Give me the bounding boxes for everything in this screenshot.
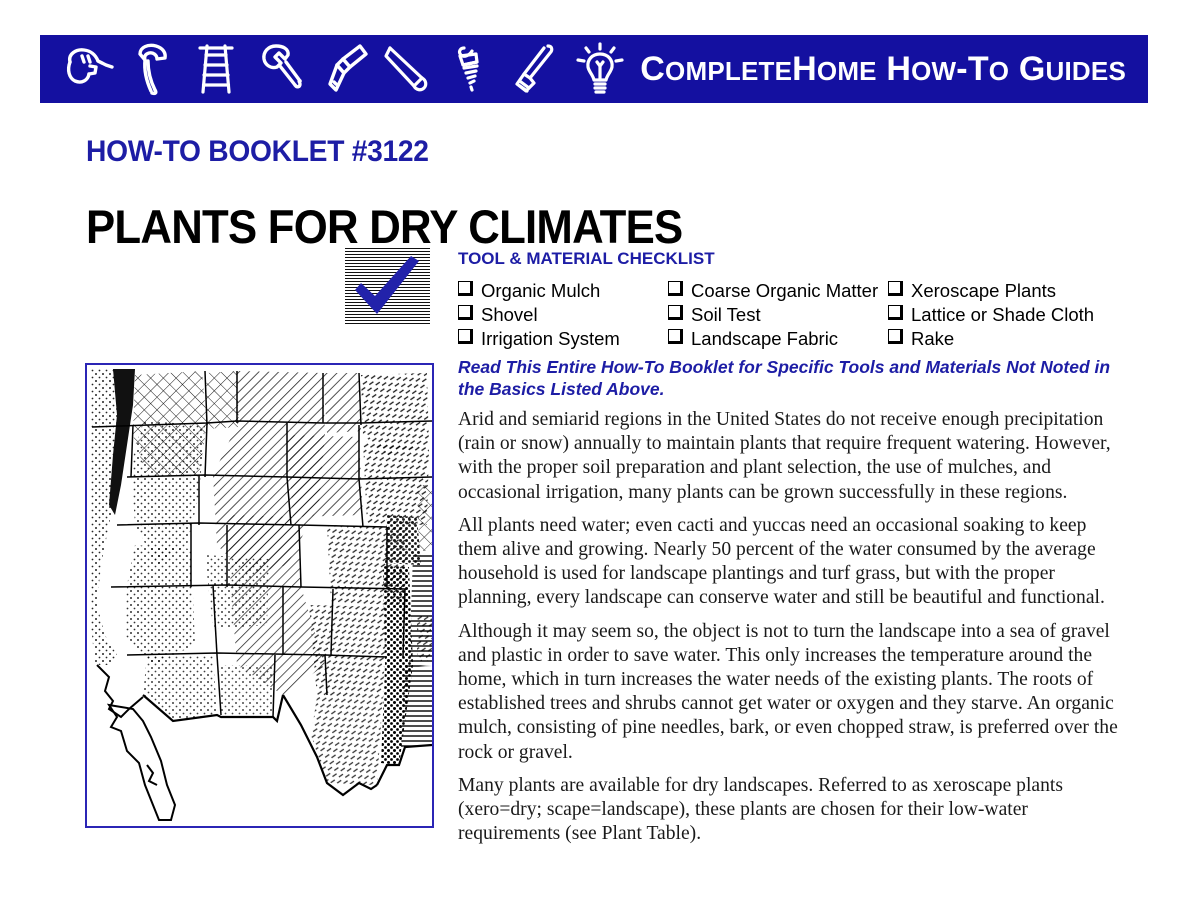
checkbox-icon[interactable] bbox=[458, 305, 473, 320]
checkbox-icon[interactable] bbox=[458, 329, 473, 344]
checklist-item-label: Coarse Organic Matter bbox=[691, 279, 878, 302]
screw-icon bbox=[446, 40, 498, 98]
climate-map-graphic bbox=[87, 365, 432, 826]
tool-icon-strip bbox=[40, 35, 626, 103]
paintbrush-icon bbox=[318, 40, 370, 98]
booklet-number: HOW-TO BOOKLET #3122 bbox=[86, 135, 429, 169]
checklist-item[interactable]: Landscape Fabric bbox=[668, 327, 888, 350]
checklist-item-label: Lattice or Shade Cloth bbox=[911, 303, 1094, 326]
checklist-item-label: Landscape Fabric bbox=[691, 327, 838, 350]
hammer-icon bbox=[126, 40, 178, 98]
page-title: PLANTS FOR DRY CLIMATES bbox=[86, 199, 682, 254]
brand-part: -T bbox=[956, 50, 989, 88]
checklist-item-label: Rake bbox=[911, 327, 954, 350]
lightbulb-icon bbox=[574, 40, 626, 98]
us-arid-semiarid-climate-zone-map bbox=[85, 363, 434, 828]
checklist-item[interactable]: Rake bbox=[888, 327, 1148, 350]
body-copy: Arid and semiarid regions in the United … bbox=[458, 408, 1130, 855]
body-paragraph: Arid and semiarid regions in the United … bbox=[458, 408, 1130, 505]
wrench-icon bbox=[254, 40, 306, 98]
checkbox-icon[interactable] bbox=[668, 281, 683, 296]
checklist-item-label: Shovel bbox=[481, 303, 538, 326]
ladder-icon bbox=[190, 40, 242, 98]
checkmark-icon bbox=[345, 248, 430, 326]
checklist-item[interactable]: Soil Test bbox=[668, 303, 888, 326]
checklist-item-label: Xeroscape Plants bbox=[911, 279, 1056, 302]
body-paragraph: Although it may seem so, the object is n… bbox=[458, 620, 1130, 765]
brand-part: OME bbox=[817, 56, 877, 86]
brand-part: H bbox=[877, 50, 911, 88]
blue-checkmark-badge bbox=[345, 248, 430, 326]
brand-part: G bbox=[1009, 50, 1045, 88]
checklist-item-label: Soil Test bbox=[691, 303, 761, 326]
checklist-item[interactable]: Lattice or Shade Cloth bbox=[888, 303, 1148, 326]
body-paragraph: Many plants are available for dry landsc… bbox=[458, 774, 1130, 847]
checkbox-icon[interactable] bbox=[888, 281, 903, 296]
checklist-item[interactable]: Coarse Organic Matter bbox=[668, 279, 888, 302]
checklist-item[interactable]: Xeroscape Plants bbox=[888, 279, 1148, 302]
brand-part: O bbox=[989, 56, 1009, 86]
checkbox-icon[interactable] bbox=[668, 329, 683, 344]
body-paragraph: All plants need water; even cacti and yu… bbox=[458, 514, 1130, 611]
checklist-item-label: Organic Mulch bbox=[481, 279, 600, 302]
brand-part: OMPLETE bbox=[665, 56, 792, 86]
header-banner: COMPLETEHOME HOW-TO GUIDES bbox=[40, 35, 1148, 103]
brand-part: C bbox=[640, 50, 665, 88]
checklist-heading: TOOL & MATERIAL CHECKLIST bbox=[458, 249, 715, 269]
checkbox-icon[interactable] bbox=[458, 281, 473, 296]
brand-part: UIDES bbox=[1046, 56, 1126, 86]
checkbox-icon[interactable] bbox=[888, 305, 903, 320]
checkbox-icon[interactable] bbox=[888, 329, 903, 344]
checkbox-icon[interactable] bbox=[668, 305, 683, 320]
brand-part: OW bbox=[911, 56, 956, 86]
checklist-item[interactable]: Shovel bbox=[458, 303, 668, 326]
read-entire-booklet-note: Read This Entire How-To Booklet for Spec… bbox=[458, 356, 1138, 400]
brand-title: COMPLETEHOME HOW-TO GUIDES bbox=[640, 50, 1148, 89]
drill-icon bbox=[62, 40, 114, 98]
handsaw-icon bbox=[382, 40, 434, 98]
screwdriver-icon bbox=[510, 40, 562, 98]
checklist-item-label: Irrigation System bbox=[481, 327, 620, 350]
checklist-grid: Organic Mulch Coarse Organic Matter Xero… bbox=[458, 279, 1148, 350]
brand-part: H bbox=[792, 50, 817, 88]
checklist-item[interactable]: Irrigation System bbox=[458, 327, 668, 350]
checklist-item[interactable]: Organic Mulch bbox=[458, 279, 668, 302]
